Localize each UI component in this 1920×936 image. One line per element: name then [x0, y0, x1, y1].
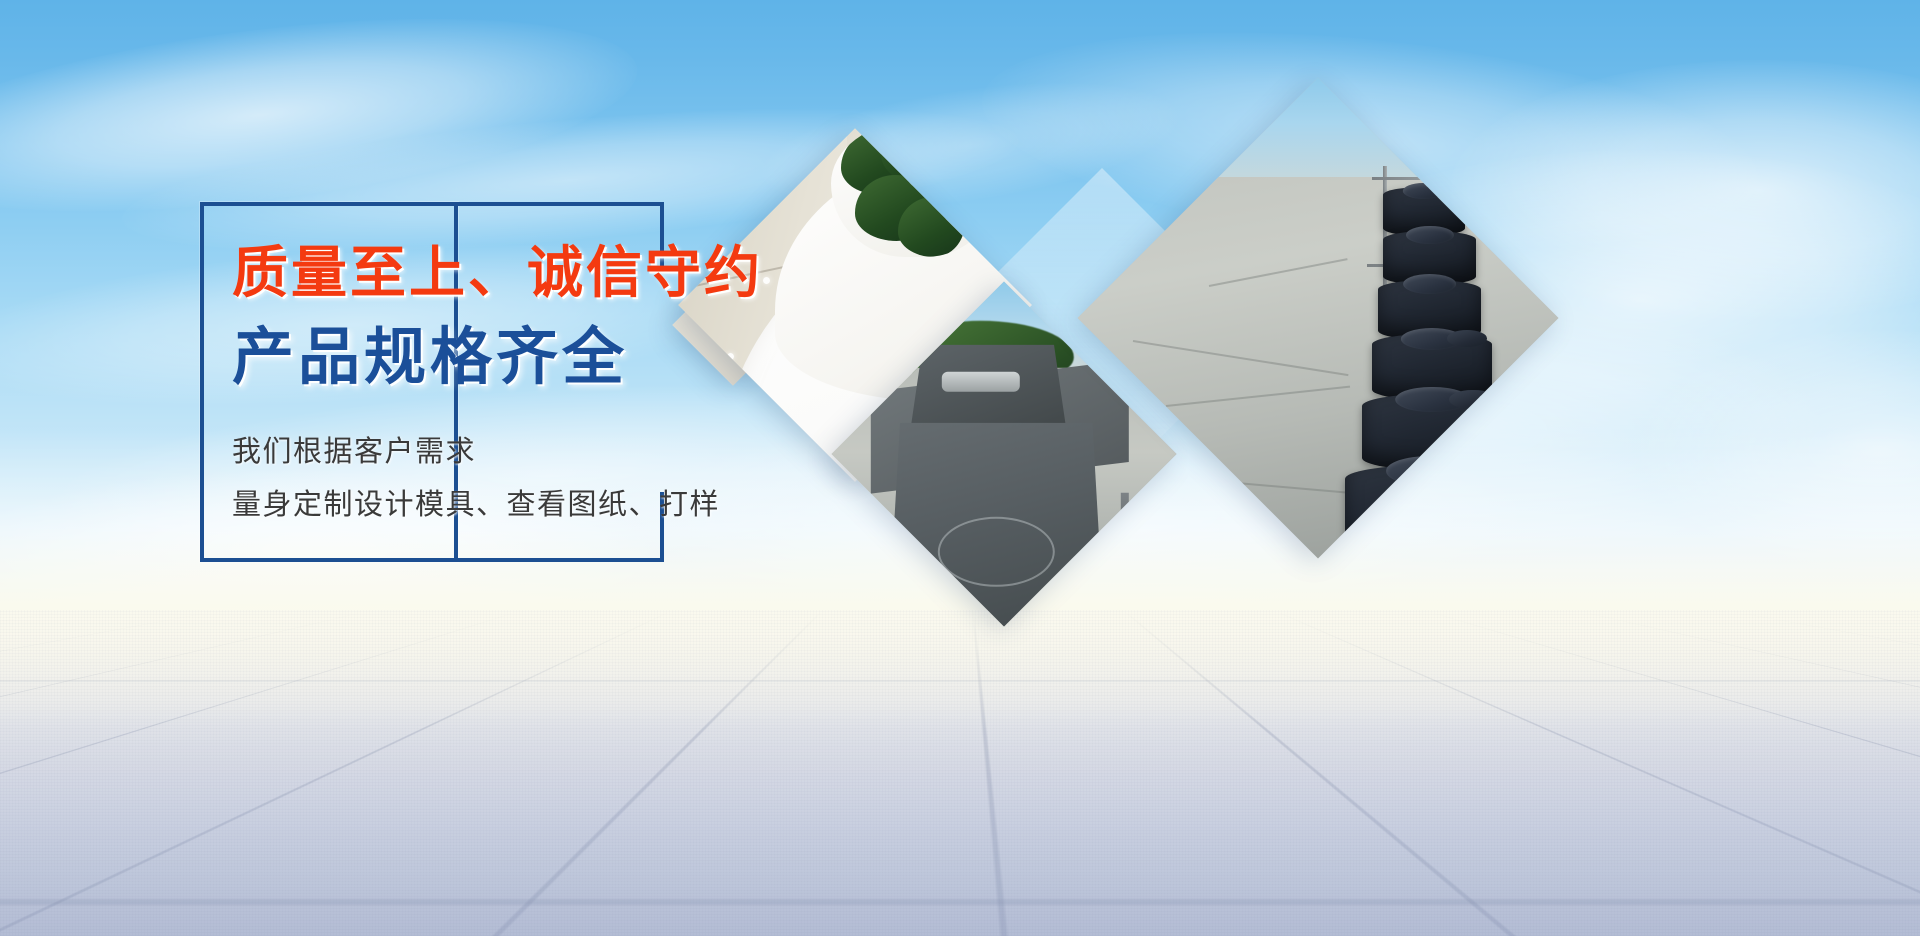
cloud-puff	[1640, 330, 1920, 570]
pavement-perspective	[0, 610, 1920, 936]
banner-text-block: 质量至上、诚信守约 产品规格齐全 我们根据客户需求 量身定制设计模具、查看图纸、…	[232, 240, 932, 531]
headline-red: 质量至上、诚信守约	[232, 240, 932, 306]
pavement-ground	[0, 610, 1920, 936]
ground-horizon-fade	[0, 610, 1920, 730]
tank-cap-secondary	[1447, 330, 1488, 347]
tank-cap	[1405, 226, 1453, 244]
banner-stage: 质量至上、诚信守约 产品规格齐全 我们根据客户需求 量身定制设计模具、查看图纸、…	[0, 0, 1920, 936]
tank-cap	[1403, 274, 1457, 294]
mold-tank-handle	[942, 372, 1020, 392]
subtitle-line-2: 量身定制设计模具、查看图纸、打样	[232, 480, 932, 531]
ground-shadow	[0, 706, 1920, 936]
headline-blue: 产品规格齐全	[232, 322, 932, 393]
subtitle-line-1: 我们根据客户需求	[232, 427, 932, 478]
mold-tank-ring	[938, 516, 1055, 586]
